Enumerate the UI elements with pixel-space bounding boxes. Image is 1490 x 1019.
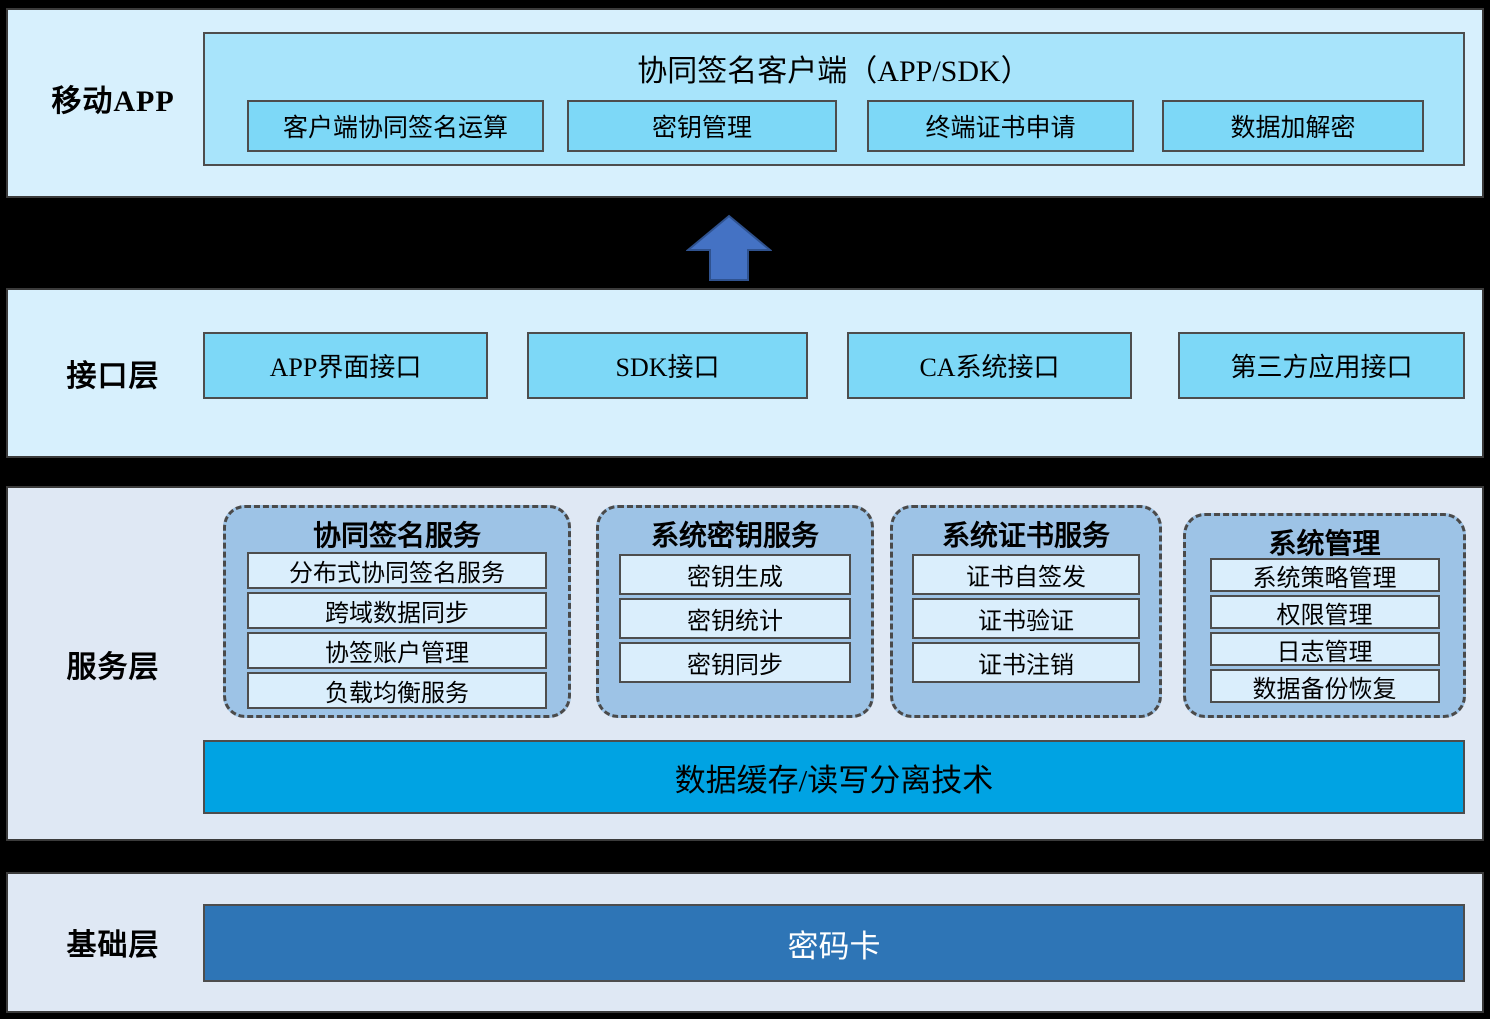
app-box-key-management[interactable]: 密钥管理 [567, 100, 837, 152]
layer-label-interface: 接口层 [28, 351, 198, 395]
up-arrow-icon [686, 214, 772, 282]
interface-box-sdk[interactable]: SDK接口 [527, 332, 808, 399]
service-item-key-statistics[interactable]: 密钥统计 [619, 598, 851, 639]
service-item-distributed-cosign[interactable]: 分布式协同签名服务 [247, 552, 547, 589]
layer-label-service: 服务层 [28, 642, 198, 686]
data-cache-bar[interactable]: 数据缓存/读写分离技术 [203, 740, 1465, 814]
client-panel: 协同签名客户端（APP/SDK） 客户端协同签名运算 密钥管理 终端证书申请 数… [203, 32, 1465, 166]
service-item-cosign-account-mgmt[interactable]: 协签账户管理 [247, 632, 547, 669]
service-group-items: 系统策略管理 权限管理 日志管理 数据备份恢复 [1186, 558, 1463, 703]
service-item-policy-mgmt[interactable]: 系统策略管理 [1210, 558, 1440, 592]
layer-label-mobile-app: 移动APP [28, 76, 198, 120]
service-group-cosign: 协同签名服务 分布式协同签名服务 跨域数据同步 协签账户管理 负载均衡服务 [223, 505, 571, 718]
service-item-backup-restore[interactable]: 数据备份恢复 [1210, 669, 1440, 703]
app-box-data-encrypt-decrypt[interactable]: 数据加解密 [1162, 100, 1424, 152]
service-item-key-sync[interactable]: 密钥同步 [619, 642, 851, 683]
service-group-items: 证书自签发 证书验证 证书注销 [893, 554, 1159, 683]
service-item-load-balance[interactable]: 负载均衡服务 [247, 672, 547, 709]
service-group-title: 系统密钥服务 [599, 514, 871, 554]
client-panel-title: 协同签名客户端（APP/SDK） [205, 46, 1463, 90]
base-bar-crypto-card[interactable]: 密码卡 [203, 904, 1465, 982]
interface-box-app-ui[interactable]: APP界面接口 [203, 332, 488, 399]
service-group-items: 密钥生成 密钥统计 密钥同步 [599, 554, 871, 683]
service-group-title: 系统证书服务 [893, 514, 1159, 554]
interface-box-ca-system[interactable]: CA系统接口 [847, 332, 1132, 399]
service-group-title: 系统管理 [1186, 522, 1463, 562]
service-item-key-generation[interactable]: 密钥生成 [619, 554, 851, 595]
layer-label-base: 基础层 [28, 920, 198, 964]
service-group-system-key: 系统密钥服务 密钥生成 密钥统计 密钥同步 [596, 505, 874, 718]
service-item-permission-mgmt[interactable]: 权限管理 [1210, 595, 1440, 629]
app-box-client-cosign-compute[interactable]: 客户端协同签名运算 [247, 100, 544, 152]
gap-band-app-interface [0, 198, 1490, 286]
service-item-cert-revoke[interactable]: 证书注销 [912, 642, 1140, 683]
service-item-log-mgmt[interactable]: 日志管理 [1210, 632, 1440, 666]
interface-box-third-party-app[interactable]: 第三方应用接口 [1178, 332, 1465, 399]
service-group-system-management: 系统管理 系统策略管理 权限管理 日志管理 数据备份恢复 [1183, 513, 1466, 718]
app-box-terminal-cert-request[interactable]: 终端证书申请 [867, 100, 1134, 152]
diagram-canvas: 移动APP 协同签名客户端（APP/SDK） 客户端协同签名运算 密钥管理 终端… [0, 0, 1490, 1019]
service-group-system-cert: 系统证书服务 证书自签发 证书验证 证书注销 [890, 505, 1162, 718]
service-item-cross-domain-sync[interactable]: 跨域数据同步 [247, 592, 547, 629]
service-group-title: 协同签名服务 [226, 514, 568, 554]
service-item-cert-self-issue[interactable]: 证书自签发 [912, 554, 1140, 595]
service-group-items: 分布式协同签名服务 跨域数据同步 协签账户管理 负载均衡服务 [226, 552, 568, 709]
service-item-cert-verify[interactable]: 证书验证 [912, 598, 1140, 639]
